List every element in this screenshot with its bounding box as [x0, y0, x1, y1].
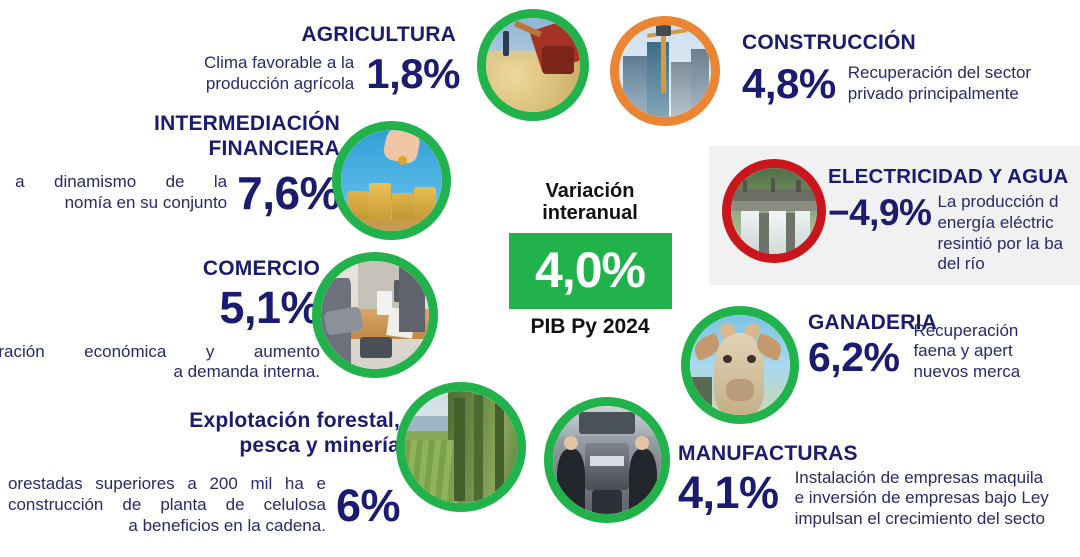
sector-manufacturas: MANUFACTURAS 4,1% Instalación de empresa…: [678, 443, 1080, 530]
manufacturas-description: Instalación de empresas maquila e invers…: [795, 468, 1057, 530]
ganaderia-description: Recuperación faena y apert nuevos merca: [913, 321, 1053, 383]
soybean-harvest-photo: [486, 18, 580, 112]
comercio-photo-circle: [312, 252, 438, 378]
manufacturas-photo-circle: [544, 397, 670, 523]
pib-paraguay-2024-infographic: AGRICULTURA Clima favorable a la producc…: [0, 0, 1080, 557]
construccion-value: 4,8%: [742, 63, 836, 105]
sector-comercio: COMERCIO 5,1% uperación económica y aume…: [0, 258, 320, 383]
comercio-title: COMERCIO: [0, 258, 320, 281]
coins-savings-photo: [341, 130, 442, 231]
forestal-photo-circle: [396, 382, 526, 512]
ganaderia-value: 6,2%: [808, 337, 899, 378]
intermediacion-value: 7,6%: [237, 170, 340, 216]
forestal-value: 6%: [336, 483, 400, 528]
shop-counter-photo: [321, 261, 429, 369]
sector-intermediacion-financiera: INTERMEDIACIÓN FINANCIERA a dinamismo de…: [0, 112, 340, 216]
comercio-value: 5,1%: [0, 285, 320, 330]
manufacturas-title: MANUFACTURAS: [678, 443, 1080, 466]
electricidad-title: ELECTRICIDAD Y AGUA: [828, 166, 1080, 188]
factory-workers-photo: [553, 406, 661, 514]
hydro-dam-photo: [731, 168, 817, 254]
sector-agricultura: AGRICULTURA Clima favorable a la producc…: [150, 24, 460, 95]
intermediacion-description: a dinamismo de la nomía en su conjunto: [15, 172, 227, 213]
ganaderia-photo-circle: [681, 306, 799, 424]
intermediacion-photo-circle: [332, 121, 451, 240]
eucalyptus-plantation-photo: [405, 391, 517, 503]
cow-photo: [690, 315, 790, 415]
manufacturas-value: 4,1%: [678, 470, 779, 515]
sector-electricidad: ELECTRICIDAD Y AGUA −4,9% La producción …: [828, 166, 1080, 275]
construccion-title: CONSTRUCCIÓN: [742, 32, 1080, 55]
agricultura-title: AGRICULTURA: [150, 24, 460, 47]
construccion-photo-circle: [610, 16, 720, 126]
sector-forestal: Explotación forestal, pesca y minería or…: [0, 408, 400, 537]
electricidad-photo-circle: [722, 159, 826, 263]
badge-label: Variación interanual: [490, 180, 690, 225]
agricultura-value: 1,8%: [366, 53, 460, 95]
intermediacion-title: INTERMEDIACIÓN FINANCIERA: [0, 112, 340, 162]
center-badge: Variación interanual 4,0% PIB Py 2024: [490, 180, 690, 338]
comercio-description: uperación económica y aumento a demanda …: [0, 342, 320, 383]
construccion-description: Recuperación del sector privado principa…: [848, 63, 1063, 104]
electricidad-description: La producción d energía eléctric resinti…: [937, 192, 1080, 275]
construction-crane-photo: [619, 25, 711, 117]
forestal-description: orestadas superiores a 200 mil ha e cons…: [8, 474, 326, 536]
sector-ganaderia: GANADERIA 6,2% Recuperación faena y aper…: [808, 312, 1080, 383]
sector-construccion: CONSTRUCCIÓN 4,8% Recuperación del secto…: [742, 32, 1080, 105]
badge-footer: PIB Py 2024: [490, 315, 690, 338]
forestal-title: Explotación forestal, pesca y minería: [0, 408, 400, 458]
electricidad-value: −4,9%: [828, 194, 931, 231]
agricultura-photo-circle: [477, 9, 589, 121]
badge-value: 4,0%: [509, 233, 672, 309]
agricultura-description: Clima favorable a la producción agrícola: [174, 53, 354, 94]
